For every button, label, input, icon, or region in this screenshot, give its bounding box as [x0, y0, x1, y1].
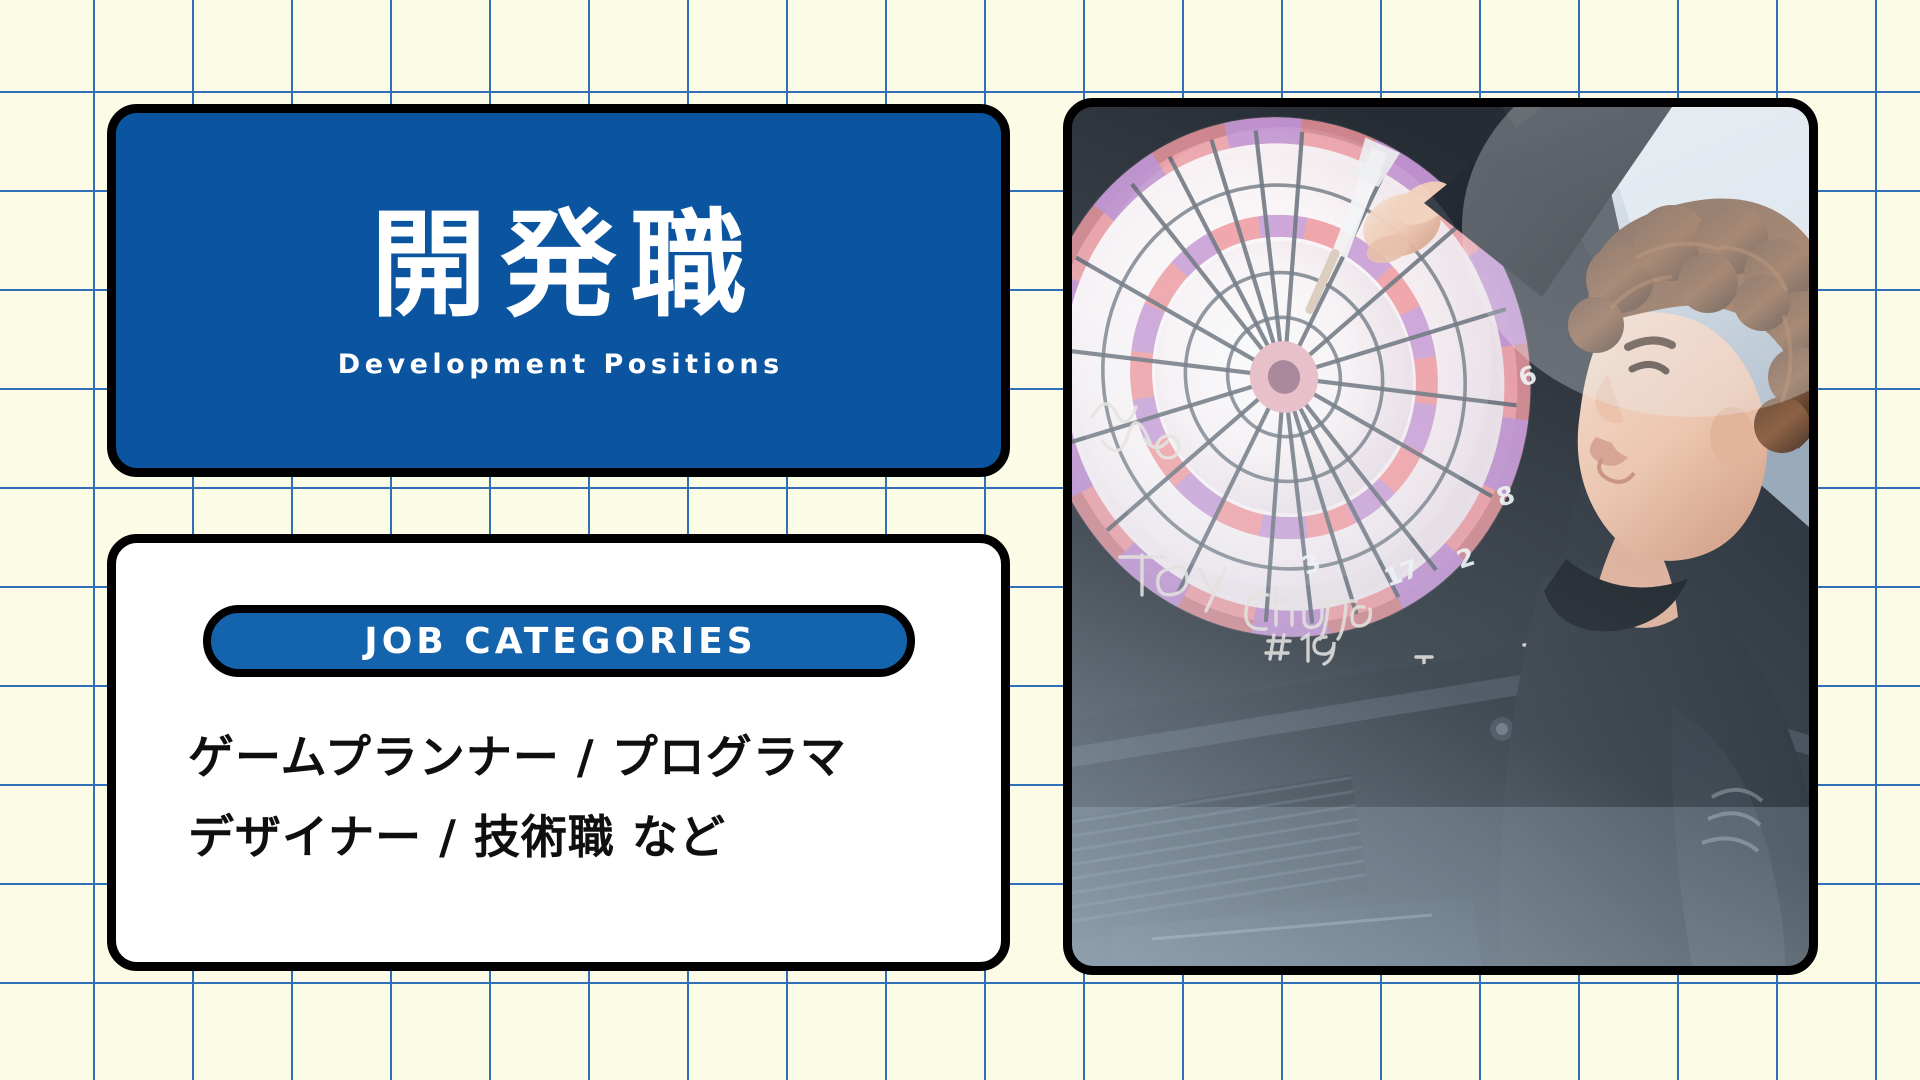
left-column: 開発職 Development Positions — [107, 104, 1010, 477]
job-category-line: ゲームプランナー / プログラマ — [188, 721, 1001, 787]
poster-canvas: 開発職 Development Positions JOB CATEGORIES… — [0, 0, 1920, 1080]
dartboard-photo: 6 8 2 17 3 — [1072, 107, 1809, 966]
job-categories-pill-label: JOB CATEGORIES — [360, 621, 756, 662]
title-card: 開発職 Development Positions — [107, 104, 1010, 477]
photo-card: 6 8 2 17 3 — [1063, 98, 1818, 975]
job-categories-pill: JOB CATEGORIES — [203, 605, 915, 677]
page-subtitle: Development Positions — [333, 349, 783, 380]
job-categories-list: ゲームプランナー / プログラマ デザイナー / 技術職 など — [116, 721, 1001, 867]
page-title: 開発職 — [357, 201, 761, 331]
job-category-line: デザイナー / 技術職 など — [188, 801, 1001, 867]
job-categories-card: JOB CATEGORIES ゲームプランナー / プログラマ デザイナー / … — [107, 534, 1010, 971]
